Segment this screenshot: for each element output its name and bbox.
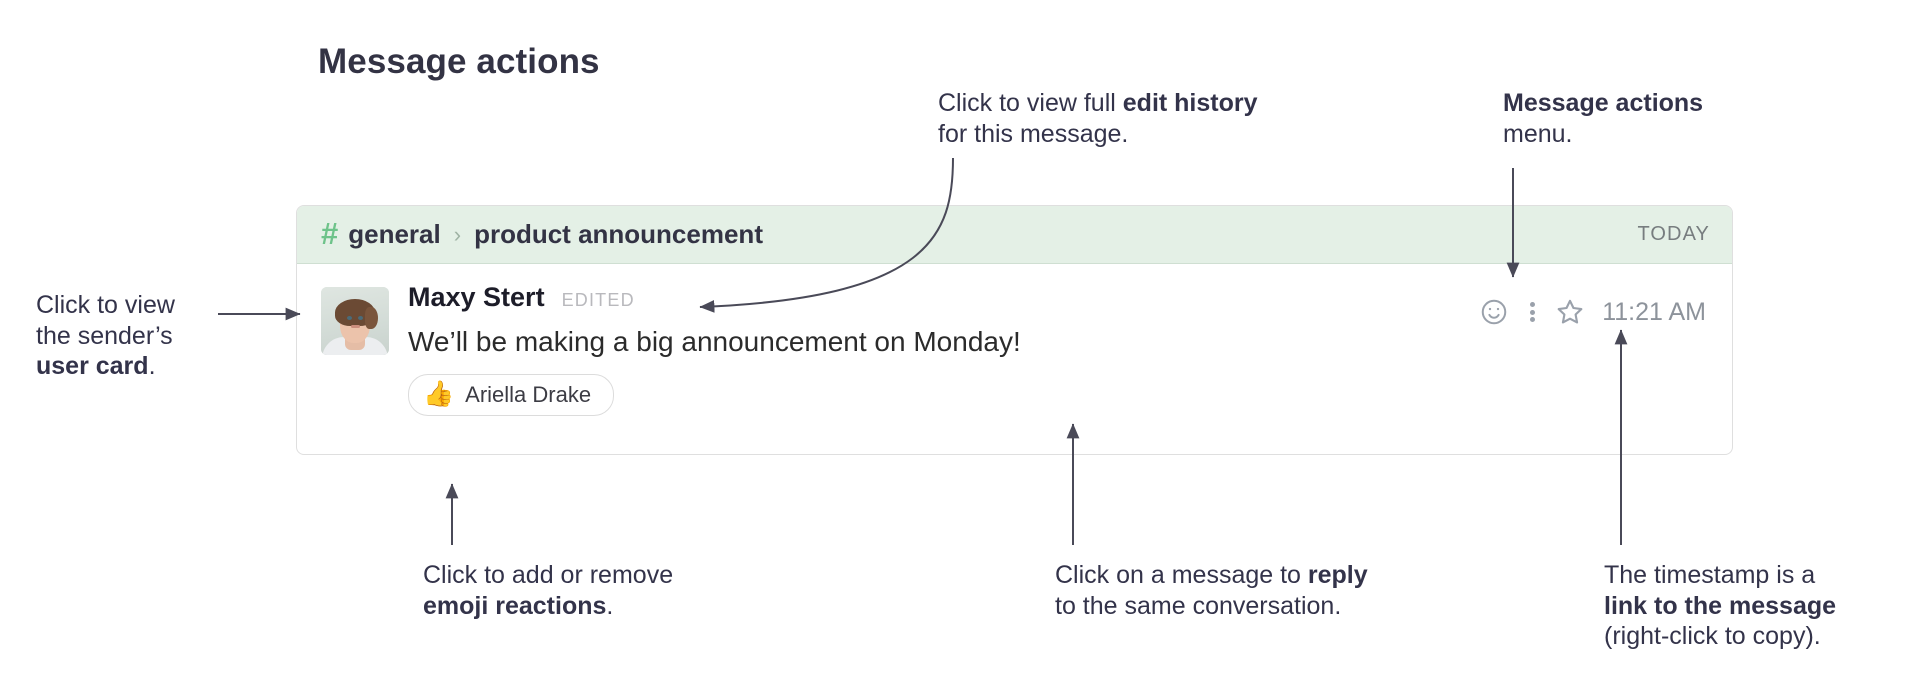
annotation-user-card: Click to view the sender’s user card.: [36, 290, 256, 382]
hash-icon: #: [321, 218, 338, 249]
annotation-strong: Message actions: [1503, 89, 1703, 117]
annotation-text: Click to add or remove: [423, 561, 673, 589]
annotation-text: .: [606, 592, 613, 620]
topic-name[interactable]: product announcement: [474, 219, 763, 250]
annotation-text: for this message.: [938, 120, 1128, 148]
message-actions-menu-icon[interactable]: [1516, 292, 1548, 332]
reactions-row: 👍 Ariella Drake: [408, 374, 1710, 416]
annotation-strong: emoji reactions: [423, 592, 606, 620]
star-icon[interactable]: [1548, 292, 1592, 332]
stream-name[interactable]: general: [348, 219, 441, 250]
recipient-bar: # general › product announcement TODAY: [297, 206, 1732, 264]
annotation-text: menu.: [1503, 120, 1572, 148]
message-timestamp[interactable]: 11:21 AM: [1602, 298, 1706, 327]
message-card: # general › product announcement TODAY M…: [296, 205, 1733, 455]
avatar[interactable]: [321, 287, 389, 355]
annotation-actions-menu: Message actions menu.: [1503, 88, 1803, 149]
reaction-label: Ariella Drake: [465, 382, 591, 408]
annotation-timestamp: The timestamp is a link to the message (…: [1604, 560, 1914, 652]
annotation-strong: reply: [1308, 561, 1368, 589]
recipient-date[interactable]: TODAY: [1637, 223, 1710, 246]
edited-label[interactable]: EDITED: [562, 290, 635, 311]
chevron-right-icon: ›: [454, 224, 461, 246]
annotation-text: .: [149, 352, 156, 380]
message-controls: 11:21 AM: [1472, 292, 1706, 332]
annotation-reply: Click on a message to reply to the same …: [1055, 560, 1455, 621]
annotation-emoji-reactions: Click to add or remove emoji reactions.: [423, 560, 753, 621]
message-row[interactable]: Maxy Stert EDITED We’ll be making a big …: [297, 264, 1732, 416]
annotation-text: the sender’s: [36, 322, 173, 350]
annotation-strong: edit history: [1123, 89, 1258, 117]
annotation-strong: link to the message: [1604, 592, 1836, 620]
annotation-text: to the same conversation.: [1055, 592, 1341, 620]
annotation-edit-history: Click to view full edit history for this…: [938, 88, 1358, 149]
annotation-text: (right-click to copy).: [1604, 622, 1821, 650]
annotation-text: The timestamp is a: [1604, 561, 1815, 589]
annotation-text: Click to view full: [938, 89, 1123, 117]
thumbs-up-icon: 👍: [423, 382, 454, 407]
annotation-strong: user card: [36, 352, 149, 380]
page-title: Message actions: [318, 42, 600, 82]
reaction-pill[interactable]: 👍 Ariella Drake: [408, 374, 614, 416]
annotation-text: Click to view: [36, 291, 175, 319]
annotation-text: Click on a message to: [1055, 561, 1308, 589]
sender-name[interactable]: Maxy Stert: [408, 282, 545, 313]
emoji-reaction-icon[interactable]: [1472, 292, 1516, 332]
